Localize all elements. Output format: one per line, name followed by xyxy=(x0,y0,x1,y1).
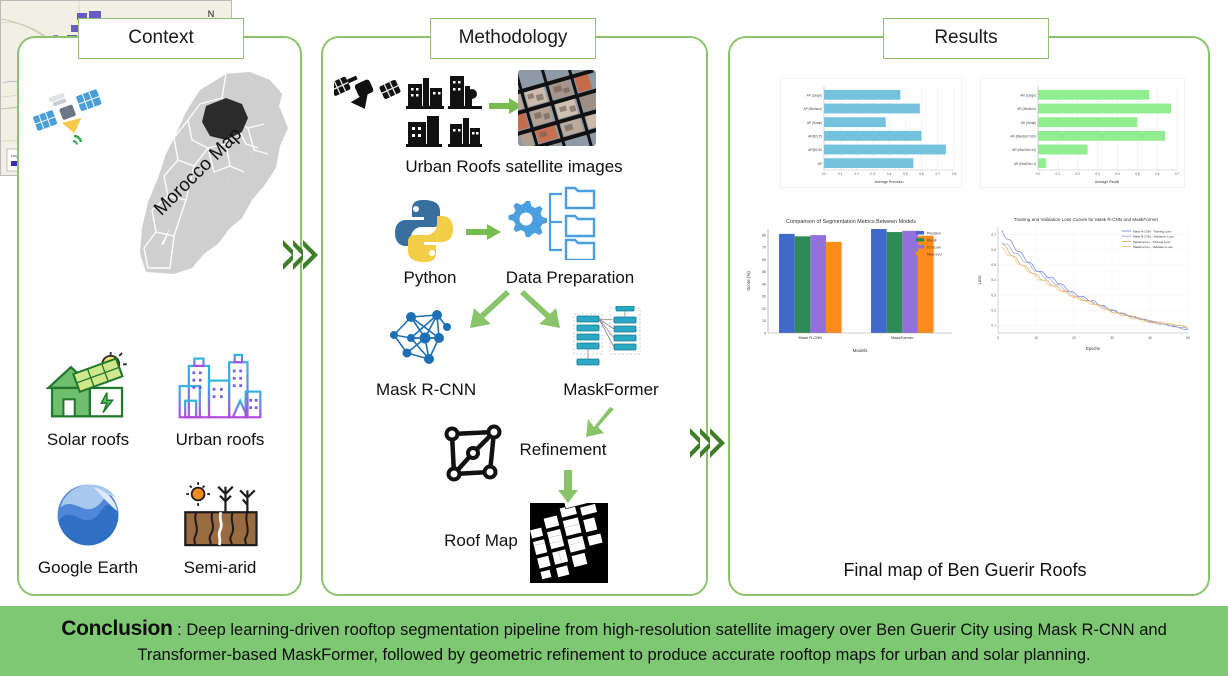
arrow-maskformer-to-refinement xyxy=(586,405,618,439)
svg-text:Mask R-CNN - Training Loss: Mask R-CNN - Training Loss xyxy=(1133,229,1172,233)
svg-text:0.7: 0.7 xyxy=(991,233,996,237)
svg-text:0.2: 0.2 xyxy=(991,308,996,312)
python-logo-icon xyxy=(390,197,458,265)
svg-text:0.7: 0.7 xyxy=(936,172,941,176)
satellite-icon xyxy=(32,82,106,150)
svg-text:50: 50 xyxy=(762,270,766,274)
svg-text:20: 20 xyxy=(1072,336,1076,340)
svg-text:MaskFormer - Training Loss: MaskFormer - Training Loss xyxy=(1133,240,1171,244)
svg-text:0.8: 0.8 xyxy=(952,172,957,176)
svg-text:0.3: 0.3 xyxy=(991,293,996,297)
polygon-refinement-icon xyxy=(440,420,506,486)
svg-text:Mask R-CNN: Mask R-CNN xyxy=(799,335,823,340)
svg-text:0.1: 0.1 xyxy=(1056,172,1061,176)
svg-text:AP (Medium): AP (Medium) xyxy=(803,107,822,111)
svg-text:AR (Medium): AR (Medium) xyxy=(1017,107,1036,111)
svg-text:80: 80 xyxy=(762,233,766,237)
svg-text:F1-Score: F1-Score xyxy=(927,245,941,249)
svg-text:10: 10 xyxy=(1034,336,1038,340)
solar-house-icon xyxy=(28,350,148,424)
svg-text:Loss: Loss xyxy=(977,276,982,285)
svg-text:0.5: 0.5 xyxy=(1135,172,1140,176)
mask-rcnn-network-icon xyxy=(385,305,463,371)
conclusion-separator: : xyxy=(173,621,187,639)
svg-text:0: 0 xyxy=(764,331,766,335)
city-buildings-icon xyxy=(160,350,280,424)
svg-text:AR (Small): AR (Small) xyxy=(1021,121,1036,125)
context-item-solar-roofs: Solar roofs xyxy=(28,350,148,450)
satellite-black-icon xyxy=(334,62,402,122)
svg-text:0: 0 xyxy=(997,336,999,340)
svg-text:0.6: 0.6 xyxy=(919,172,924,176)
svg-text:0.5: 0.5 xyxy=(991,263,996,267)
context-item-label: Urban roofs xyxy=(160,430,280,450)
context-item-semi-arid: Semi-arid xyxy=(160,478,280,578)
svg-text:50: 50 xyxy=(1186,336,1190,340)
label-maskformer: MaskFormer xyxy=(556,380,666,400)
svg-text:Comparison of Segmentation Met: Comparison of Segmentation Metrics Betwe… xyxy=(786,219,916,225)
average-precision-chart: AP (Large)AP (Medium)AP (Small)AP@0.75AP… xyxy=(780,78,962,188)
svg-text:AR (MaxDet=1): AR (MaxDet=1) xyxy=(1014,162,1036,166)
context-item-label: Solar roofs xyxy=(28,430,148,450)
label-roof-map: Roof Map xyxy=(438,531,524,551)
svg-text:Epochs: Epochs xyxy=(1086,346,1100,351)
svg-text:0.2: 0.2 xyxy=(1075,172,1080,176)
context-panel-title: Context xyxy=(78,18,244,59)
context-item-google-earth: Google Earth xyxy=(28,478,148,578)
svg-text:0.5: 0.5 xyxy=(903,172,908,176)
training-validation-loss-chart: Training and Validation Loss Curves for … xyxy=(972,205,1200,360)
svg-text:AR (Large): AR (Large) xyxy=(1020,93,1036,97)
label-urban-roofs-satellite-images: Urban Roofs satellite images xyxy=(400,157,628,177)
context-item-label: Semi-arid xyxy=(160,558,280,578)
roof-map-binary-mask-thumbnail xyxy=(530,503,608,583)
svg-text:AR (MaxDet=10): AR (MaxDet=10) xyxy=(1012,148,1036,152)
svg-text:0.6: 0.6 xyxy=(1155,172,1160,176)
svg-text:AR (MaxDet=100): AR (MaxDet=100) xyxy=(1010,134,1036,138)
svg-text:0.6: 0.6 xyxy=(991,248,996,252)
svg-text:30: 30 xyxy=(1110,336,1114,340)
svg-text:Models: Models xyxy=(853,348,869,353)
conclusion-banner: Conclusion : Deep learning-driven roofto… xyxy=(0,606,1228,676)
conclusion-body: Deep learning-driven rooftop segmentatio… xyxy=(137,621,1166,664)
svg-text:Score (%): Score (%) xyxy=(746,271,751,291)
arrow-refinement-to-roof-map xyxy=(557,470,579,504)
globe-icon xyxy=(28,478,148,552)
svg-text:0.3: 0.3 xyxy=(1095,172,1100,176)
conclusion-label: Conclusion xyxy=(61,617,172,640)
buildings-glyph-icon xyxy=(406,72,488,148)
svg-text:Average Recall: Average Recall xyxy=(1095,180,1120,184)
svg-text:0.1: 0.1 xyxy=(991,324,996,328)
svg-text:Recall: Recall xyxy=(927,238,937,242)
flow-arrow-methodology-to-results xyxy=(690,428,720,458)
svg-text:0.4: 0.4 xyxy=(991,278,996,282)
svg-text:MaskFormer - Validation Loss: MaskFormer - Validation Loss xyxy=(1133,245,1173,249)
svg-text:Training and Validation Loss C: Training and Validation Loss Curves for … xyxy=(1014,217,1159,222)
arid-land-icon xyxy=(160,478,280,552)
svg-text:AP (Large): AP (Large) xyxy=(807,93,822,97)
arrow-python-to-data-preparation xyxy=(466,222,502,242)
svg-text:0.0: 0.0 xyxy=(1036,172,1041,176)
conclusion-text: Conclusion : Deep learning-driven roofto… xyxy=(28,615,1200,667)
svg-text:60: 60 xyxy=(762,258,766,262)
svg-text:40: 40 xyxy=(762,282,766,286)
maskformer-architecture-icon xyxy=(572,306,642,368)
aerial-satellite-thumbnail xyxy=(518,70,596,146)
svg-text:Mask R-CNN - Validation Loss: Mask R-CNN - Validation Loss xyxy=(1133,235,1174,239)
svg-text:0.4: 0.4 xyxy=(887,172,892,176)
poster-root: Context xyxy=(0,0,1228,676)
label-mask-rcnn: Mask R-CNN xyxy=(376,380,476,400)
svg-text:40: 40 xyxy=(1148,336,1152,340)
svg-text:10: 10 xyxy=(762,319,766,323)
segmentation-metrics-chart: Comparison of Segmentation Metrics Betwe… xyxy=(740,205,962,360)
svg-text:0.4: 0.4 xyxy=(1115,172,1120,176)
svg-text:0.2: 0.2 xyxy=(854,172,859,176)
methodology-panel-title: Methodology xyxy=(430,18,596,59)
svg-text:20: 20 xyxy=(762,307,766,311)
label-data-preparation: Data Preparation xyxy=(495,268,645,288)
svg-text:0.7: 0.7 xyxy=(1175,172,1180,176)
svg-text:AP: AP xyxy=(818,162,822,166)
svg-text:Average Precision: Average Precision xyxy=(874,180,903,184)
average-recall-chart: AR (Large)AR (Medium)AR (Small)AR (MaxDe… xyxy=(980,78,1185,188)
context-item-urban-roofs: Urban roofs xyxy=(160,350,280,450)
svg-text:0.3: 0.3 xyxy=(871,172,876,176)
label-final-map: Final map of Ben Guerir Roofs xyxy=(820,560,1110,581)
svg-text:30: 30 xyxy=(762,295,766,299)
svg-text:0.1: 0.1 xyxy=(838,172,843,176)
label-python: Python xyxy=(380,268,480,288)
svg-text:AP@0.75: AP@0.75 xyxy=(808,134,822,138)
svg-text:Mean IoU: Mean IoU xyxy=(927,252,942,256)
svg-text:70: 70 xyxy=(762,246,766,250)
arrow-split-to-models xyxy=(460,290,570,338)
svg-text:Precision: Precision xyxy=(927,231,941,235)
label-refinement: Refinement xyxy=(508,440,618,460)
folders-tree-icon xyxy=(548,184,618,260)
context-item-label: Google Earth xyxy=(28,558,148,578)
morocco-map xyxy=(130,68,295,298)
results-panel-title: Results xyxy=(883,18,1049,59)
svg-text:AP (Small): AP (Small) xyxy=(807,121,822,125)
svg-text:MaskFormer: MaskFormer xyxy=(891,335,914,340)
svg-text:0.0: 0.0 xyxy=(822,172,827,176)
gear-icon xyxy=(505,196,547,242)
svg-text:AP@0.50: AP@0.50 xyxy=(808,148,822,152)
flow-arrow-context-to-methodology xyxy=(283,240,313,270)
